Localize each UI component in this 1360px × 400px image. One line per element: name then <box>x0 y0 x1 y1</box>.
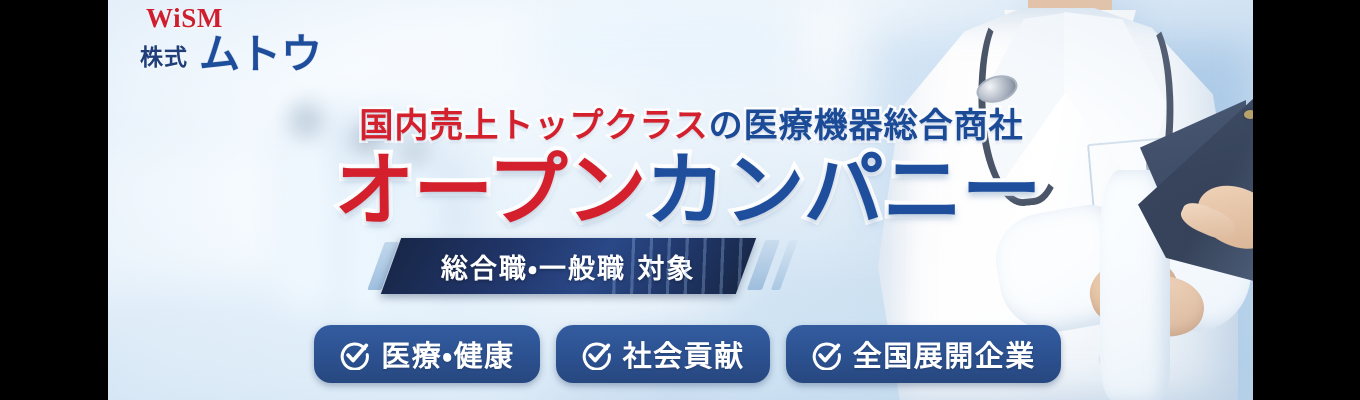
logo-company-name: ムトウ <box>199 35 322 74</box>
headline-part-red: オープン <box>334 144 645 237</box>
page-title: オープンカンパニー <box>108 150 1253 232</box>
feature-pill-medical-health[interactable]: 医療・健康 <box>314 325 539 383</box>
logo-brand-text: WiSM <box>146 5 390 32</box>
feature-pill-list: 医療・健康 社会貢献 全国展開企業 <box>108 325 1253 383</box>
logo-company-row: 株式 ムトウ <box>140 35 390 74</box>
banner-content: WiSM 株式 ムトウ 国内売上トップクラスの医療機器総合商社 オープンカンパニ… <box>108 0 1253 400</box>
headline-part-blue: カンパニー <box>646 144 1041 237</box>
tagline-rest: の医療機器総合商社 <box>709 106 1024 146</box>
letterbox-bar-left <box>0 0 108 400</box>
target-ribbon-group: 総合職・一般職 対象 <box>108 238 1253 294</box>
company-logo: WiSM 株式 ムトウ <box>140 5 390 74</box>
target-ribbon-label: 総合職・一般職 対象 <box>441 247 696 286</box>
check-circle-icon <box>339 339 370 370</box>
letterbox-bar-right <box>1253 0 1360 400</box>
feature-pill-label: 全国展開企業 <box>853 333 1036 375</box>
tagline-highlight: 国内売上トップクラス <box>359 106 708 146</box>
feature-pill-nationwide-company[interactable]: 全国展開企業 <box>786 325 1061 383</box>
logo-company-prefix: 株式 <box>140 47 188 74</box>
tagline: 国内売上トップクラスの医療機器総合商社 <box>108 98 1253 147</box>
banner-root: WiSM 株式 ムトウ 国内売上トップクラスの医療機器総合商社 オープンカンパニ… <box>0 0 1360 400</box>
feature-pill-label: 社会貢献 <box>623 333 745 375</box>
check-circle-icon <box>811 339 842 370</box>
feature-pill-label: 医療・健康 <box>381 333 514 375</box>
target-ribbon: 総合職・一般職 対象 <box>381 238 756 294</box>
feature-pill-social-contribution[interactable]: 社会貢献 <box>556 325 770 383</box>
check-circle-icon <box>581 339 612 370</box>
